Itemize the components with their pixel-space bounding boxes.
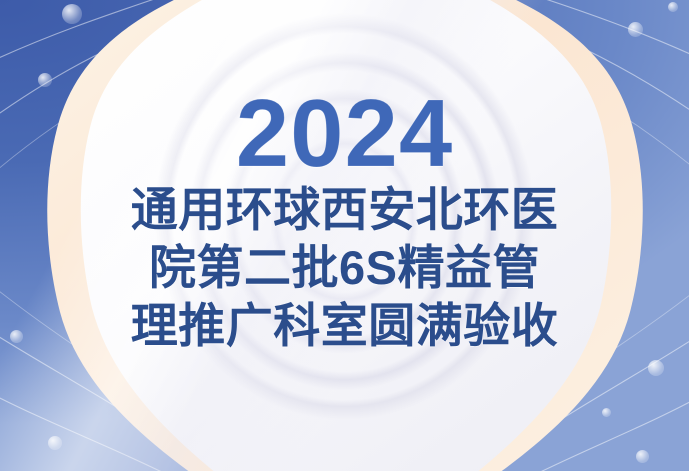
- headline-line-1: 通用环球西安北环医: [131, 184, 559, 237]
- year-title: 2024: [236, 90, 454, 178]
- headline-line-2: 院第二批6S精益管: [149, 242, 540, 295]
- headline-line-3: 理推广科室圆满验收: [131, 300, 559, 353]
- poster-content: 2024 通用环球西安北环医 院第二批6S精益管 理推广科室圆满验收: [0, 0, 689, 471]
- headline-block: 通用环球西安北环医 院第二批6S精益管 理推广科室圆满验收: [131, 184, 559, 352]
- poster-canvas: 2024 通用环球西安北环医 院第二批6S精益管 理推广科室圆满验收: [0, 0, 689, 471]
